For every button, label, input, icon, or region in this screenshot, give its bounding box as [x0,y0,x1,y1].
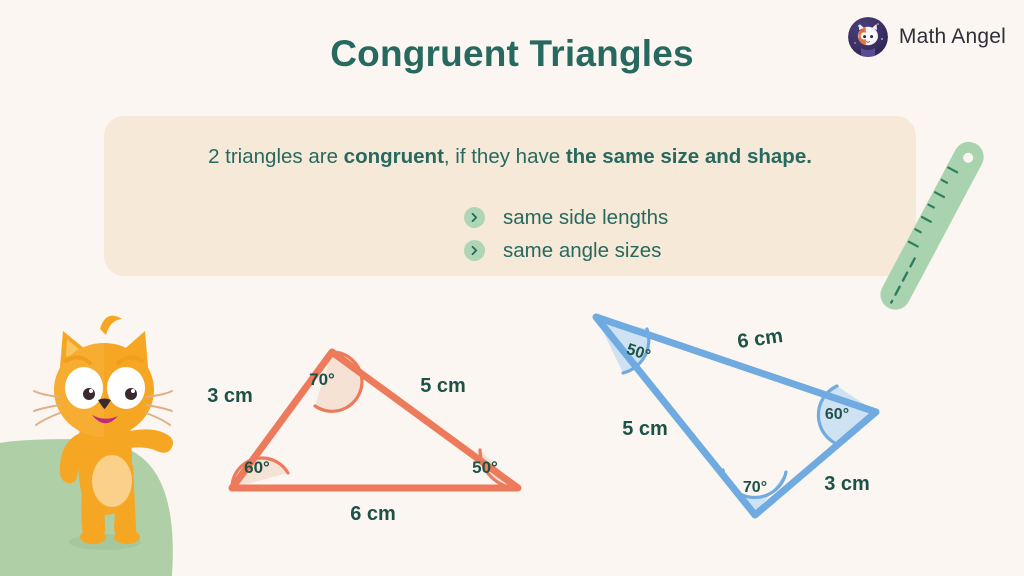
side-label: 5 cm [622,418,668,440]
cat-mascot [30,305,180,575]
definition-bold-samesize: the same size and shape. [566,145,812,168]
side-label: 3 cm [207,385,253,407]
definition-prefix: 2 triangles are [208,145,344,168]
side-label: 6 cm [350,503,396,525]
list-item: same side lengths [464,201,668,234]
side-label: 5 cm [420,375,466,397]
angle-label: 50° [472,458,498,477]
definition-bold-congruent: congruent [344,145,444,168]
chevron-right-icon [464,207,485,228]
angle-label: 70° [309,370,335,389]
list-item: same angle sizes [464,234,668,267]
blue-triangle: 50° 60° 70° 6 cm 5 cm 3 cm [575,300,905,545]
side-label: 3 cm [824,473,870,495]
angle-label: 60° [244,458,270,477]
page-title: Congruent Triangles [0,33,1024,75]
list-item-label: same angle sizes [503,239,661,263]
chevron-right-icon [464,240,485,261]
side-label: 6 cm [736,325,784,353]
slide-canvas: Math Angel Congruent Triangles 2 triangl… [0,0,1024,576]
definition-text: 2 triangles are congruent, if they have … [104,145,916,169]
angle-label: 60° [825,406,849,423]
orange-triangle: 70° 60° 50° 3 cm 5 cm 6 cm [185,330,555,545]
angle-label: 70° [743,479,767,496]
list-item-label: same side lengths [503,206,668,230]
property-list: same side lengths same angle sizes [464,201,668,267]
definition-middle: , if they have [444,145,566,168]
definition-card: 2 triangles are congruent, if they have … [104,116,916,276]
